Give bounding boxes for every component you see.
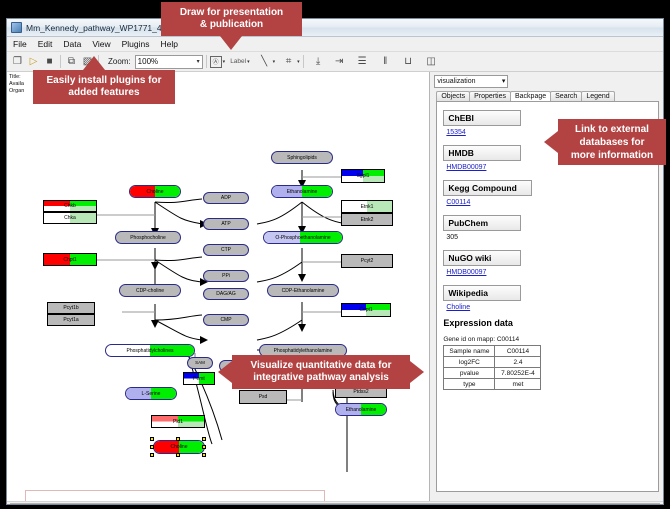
callout-draw-line2: & publication — [200, 19, 263, 31]
node-label: Cept1 — [359, 307, 372, 313]
visualization-combo[interactable]: visualization ▾ — [434, 75, 508, 88]
line-dropdown[interactable]: ╲ ▾ — [257, 54, 276, 69]
kegg-link[interactable]: C00114 — [446, 199, 658, 206]
group-icon[interactable]: ⊔ — [401, 54, 416, 69]
node-label: Chkb — [64, 203, 76, 209]
node-label: ATP — [221, 221, 230, 227]
menu-bar: File Edit Data View Plugins Help — [7, 37, 663, 52]
node-label: PPi — [222, 273, 230, 279]
wikipedia-link[interactable]: Choline — [446, 304, 658, 311]
shape-icon: ⌗ — [281, 54, 296, 69]
node-label: Chka — [64, 215, 76, 221]
selection-handle[interactable] — [202, 453, 206, 457]
cell-value: 7.80252E-4 — [495, 368, 541, 379]
table-row: Sample name C00114 — [444, 346, 541, 357]
open-file-icon[interactable]: ▷ — [26, 54, 41, 69]
node-chpt1[interactable]: Chpt1 — [43, 253, 97, 266]
selection-handle[interactable] — [202, 445, 206, 449]
node-pcyt2[interactable]: Pcyt2 — [341, 254, 393, 268]
node-label: L-Serine — [142, 391, 161, 397]
callout-draw: Draw for presentation & publication — [161, 2, 302, 36]
cell-label: Sample name — [444, 346, 495, 357]
node-label: Chpt1 — [63, 257, 76, 263]
cell-label: type — [444, 379, 495, 390]
align-left-icon[interactable]: ⇥ — [332, 54, 347, 69]
node-label: Pld1 — [173, 419, 183, 425]
selection-handle[interactable] — [150, 437, 154, 441]
pathway-edges — [7, 72, 430, 501]
shape-dropdown[interactable]: ⌗ ▾ — [281, 54, 300, 69]
node-sphingolipids[interactable]: Sphingolipids — [271, 151, 333, 164]
pubchem-header: PubChem — [443, 215, 521, 231]
callout-visualize-line1: Visualize quantitative data for — [251, 360, 392, 372]
selection-handle[interactable] — [176, 437, 180, 441]
node-label: Etnk1 — [361, 204, 374, 210]
node-pcyt1a[interactable]: Pcyt1a — [47, 314, 95, 326]
align-stack-icon[interactable]: ☰ — [355, 54, 370, 69]
tab-backpage[interactable]: Backpage — [510, 91, 551, 101]
node-ppi[interactable]: PPi — [203, 270, 249, 282]
node-phosphocholine[interactable]: Phosphocholine — [115, 231, 181, 244]
node-ctp[interactable]: CTP — [203, 244, 249, 256]
table-row: type met — [444, 379, 541, 390]
node-ethanolamine-top[interactable]: Ethanolamine — [271, 185, 333, 198]
node-adp[interactable]: ADP — [203, 192, 249, 204]
tab-objects[interactable]: Objects — [436, 91, 470, 101]
wikipathways-banner: Share on Wikipathways.org — [25, 490, 325, 501]
callout-plugins-arrow — [83, 56, 105, 70]
title-bar: Mm_Kennedy_pathway_WP1771_45176.gpml — [7, 19, 663, 37]
selection-handle[interactable] — [202, 437, 206, 441]
node-sam[interactable]: SAM — [187, 357, 213, 369]
callout-link-line3: more information — [571, 149, 653, 162]
node-pcyt1b[interactable]: Pcyt1b — [47, 302, 95, 314]
copy-icon[interactable]: ⧉ — [64, 54, 79, 69]
callout-draw-arrow — [220, 36, 242, 50]
table-row: pvalue 7.80252E-4 — [444, 368, 541, 379]
callout-visualize-arrow-left — [218, 361, 232, 383]
node-chka[interactable]: Chka — [43, 212, 97, 224]
node-phosphatidylcholines[interactable]: Phosphatidylcholines — [105, 344, 195, 357]
distribute-icon[interactable]: ‖ — [378, 54, 393, 69]
callout-link-line2: databases for — [579, 136, 644, 149]
callout-link: Link to external databases for more info… — [558, 119, 666, 165]
callout-link-line1: Link to external — [575, 123, 649, 136]
hmdb-link[interactable]: HMDB00097 — [446, 164, 658, 171]
node-cdp-choline[interactable]: CDP-choline — [119, 284, 181, 297]
tab-properties[interactable]: Properties — [469, 91, 511, 101]
table-row: log2FC 2.4 — [444, 357, 541, 368]
save-file-icon[interactable]: ■ — [42, 54, 57, 69]
app-icon — [11, 22, 22, 33]
node-label: Choline — [147, 189, 164, 195]
node-label: Ptdss2 — [353, 389, 368, 395]
toolbar-separator-4 — [303, 55, 304, 68]
node-label: ADP — [221, 195, 231, 201]
node-pld1[interactable]: Pld1 — [151, 415, 205, 428]
new-file-icon[interactable]: ❐ — [10, 54, 25, 69]
node-label: Phosphocholine — [130, 235, 166, 241]
panel-tabs: Objects Properties Backpage Search Legen… — [430, 88, 663, 101]
tab-search[interactable]: Search — [550, 91, 582, 101]
chevron-down-icon: ▾ — [197, 58, 200, 65]
node-etnk1[interactable]: Etnk1 — [341, 200, 393, 213]
toolbar-separator-1 — [60, 55, 61, 68]
node-label: Ethanolamine — [287, 189, 318, 195]
node-choline-top[interactable]: Choline — [129, 185, 181, 198]
nugo-header: NuGO wiki — [443, 250, 521, 266]
zoom-value: 100% — [138, 57, 158, 66]
node-label: Phosphatidylcholines — [127, 348, 174, 354]
chevron-down-icon: ▾ — [273, 59, 276, 65]
callout-visualize-line2: integrative pathway analysis — [253, 372, 389, 384]
node-label: Pemt — [193, 376, 205, 382]
node-label: Ethanolamine — [346, 407, 377, 413]
node-psd[interactable]: Psd — [239, 390, 287, 404]
node-pemt[interactable]: Pemt — [183, 372, 215, 385]
callout-draw-line1: Draw for presentation — [180, 7, 283, 19]
node-label: Sphingolipids — [287, 155, 317, 161]
cell-value: C00114 — [495, 346, 541, 357]
label-tool-label: Label — [230, 58, 246, 65]
cell-value: met — [495, 379, 541, 390]
node-label: SAM — [195, 360, 205, 366]
chevron-down-icon: ▾ — [297, 59, 300, 65]
node-ethanolamine-bottom[interactable]: Ethanolamine — [335, 403, 387, 416]
node-cmp[interactable]: CMP — [203, 314, 249, 326]
node-label: Etnk2 — [361, 217, 374, 223]
node-label: Choline — [171, 444, 188, 450]
label-dropdown[interactable]: Label ▾ — [230, 58, 249, 65]
node-label: Phosphatidylethanolamine — [274, 348, 333, 354]
node-label: Psd — [259, 394, 268, 400]
node-label: DAG/AG — [216, 291, 235, 297]
node-sgpl1[interactable]: Sgpl1 — [341, 169, 385, 183]
zoom-combo[interactable]: 100% ▾ — [135, 55, 203, 69]
node-label: Sgpl1 — [357, 173, 370, 179]
selection-handle[interactable] — [150, 453, 154, 457]
hmdb-header: HMDB — [443, 145, 521, 161]
node-label: Pcyt2 — [361, 258, 374, 264]
node-cept1[interactable]: Cept1 — [341, 303, 391, 317]
callout-link-arrow — [544, 131, 558, 153]
menu-view[interactable]: View — [90, 39, 112, 49]
callout-visualize-arrow-right — [410, 361, 424, 383]
menu-help[interactable]: Help — [159, 39, 180, 49]
menu-data[interactable]: Data — [61, 39, 83, 49]
gene-id-line: Gene id on mapp: C00114 — [443, 336, 658, 343]
kegg-header: Kegg Compound — [443, 180, 531, 196]
chevron-down-icon: ▾ — [247, 59, 250, 65]
node-o-phosphoethanolamine[interactable]: O-Phosphoethanolamine — [263, 231, 343, 244]
node-choline-selected[interactable]: Choline — [153, 440, 205, 454]
callout-visualize: Visualize quantitative data for integrat… — [232, 355, 410, 389]
chevron-down-icon: ▾ — [502, 77, 506, 85]
selection-handle[interactable] — [150, 445, 154, 449]
callout-plugins: Easily install plugins for added feature… — [33, 70, 175, 104]
order-icon[interactable]: ◫ — [424, 54, 439, 69]
node-cdp-ethanolamine[interactable]: CDP-Ethanolamine — [267, 284, 339, 297]
expression-table: Sample name C00114 log2FC 2.4 pvalue 7.8… — [443, 345, 541, 390]
callout-plugins-line1: Easily install plugins for — [46, 75, 161, 87]
node-label: CDP-choline — [136, 288, 164, 294]
menu-edit[interactable]: Edit — [36, 39, 55, 49]
cell-value: 2.4 — [495, 357, 541, 368]
visualization-row: visualization ▾ — [430, 72, 663, 88]
toolbar: ❐ ▷ ■ ⧉ ▧ Zoom: 100% ▾ Ⓐ ▾ Label ▾ ╲ ▾ ⌗… — [7, 52, 663, 72]
node-label: O-Phosphoethanolamine — [275, 235, 330, 241]
wikipedia-header: Wikipedia — [443, 285, 521, 301]
pubchem-value: 305 — [446, 234, 658, 241]
node-chkb[interactable]: Chkb — [43, 200, 97, 212]
expression-data-heading: Expression data — [443, 318, 658, 328]
datanode-icon: Ⓐ — [210, 56, 222, 68]
node-l-serine-left[interactable]: L-Serine — [125, 387, 177, 400]
zoom-label: Zoom: — [108, 57, 131, 66]
toolbar-separator-3 — [206, 55, 207, 68]
node-dag-ag[interactable]: DAG/AG — [203, 288, 249, 300]
node-etnk2[interactable]: Etnk2 — [341, 213, 393, 226]
menu-file[interactable]: File — [11, 39, 29, 49]
tab-legend[interactable]: Legend — [581, 91, 614, 101]
node-label: CTP — [221, 247, 231, 253]
status-text: | Gene database: ...m_Derby_20120602.bri… — [10, 503, 660, 505]
chebi-header: ChEBI — [443, 110, 521, 126]
nugo-link[interactable]: HMDB00097 — [446, 269, 658, 276]
callout-plugins-line2: added features — [68, 87, 139, 99]
node-label: Pcyt1a — [63, 317, 78, 323]
line-icon: ╲ — [257, 54, 272, 69]
cell-label: pvalue — [444, 368, 495, 379]
node-atp[interactable]: ATP — [203, 218, 249, 230]
visualization-value: visualization — [437, 78, 475, 85]
node-label: Pcyt1b — [63, 305, 78, 311]
menu-plugins[interactable]: Plugins — [120, 39, 152, 49]
align-top-icon[interactable]: ⤓ — [311, 54, 326, 69]
node-label: CDP-Ethanolamine — [282, 288, 325, 294]
node-label: CMP — [220, 317, 231, 323]
chevron-down-icon: ▾ — [223, 59, 226, 65]
status-bar: | Gene database: ...m_Derby_20120602.bri… — [7, 501, 663, 505]
selection-handle[interactable] — [176, 453, 180, 457]
cell-label: log2FC — [444, 357, 495, 368]
wikipathways-text: Share on Wikipathways.org — [76, 498, 274, 501]
datanode-dropdown[interactable]: Ⓐ ▾ — [210, 56, 226, 68]
pathway-canvas[interactable]: Title: Availa Organ — [7, 72, 430, 501]
